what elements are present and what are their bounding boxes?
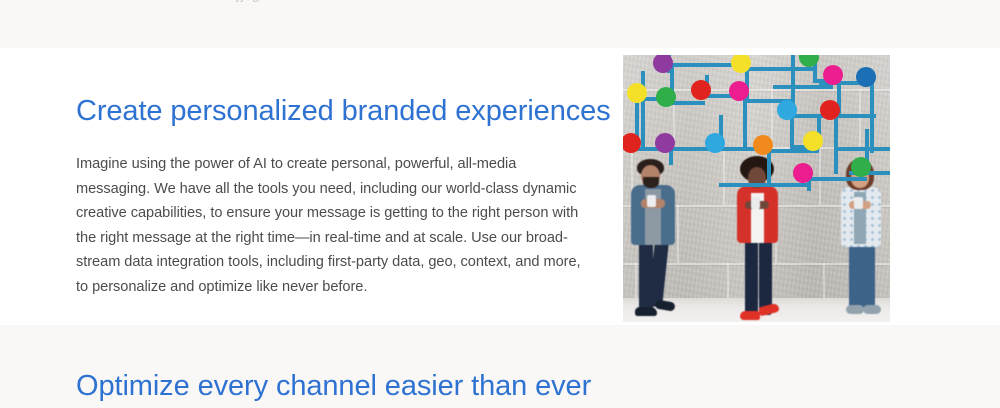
network-link	[773, 85, 833, 89]
page-root: jy g Create personalized branded experie…	[0, 0, 1000, 408]
network-link	[719, 183, 809, 187]
page-title: Create personalized branded experiences	[76, 92, 586, 130]
network-node	[656, 87, 676, 107]
network-node	[803, 131, 823, 151]
network-node	[705, 133, 725, 153]
clipped-previous-text: jy g	[236, 0, 260, 3]
network-link	[835, 147, 890, 151]
network-link	[834, 114, 838, 174]
network-link	[767, 149, 771, 185]
network-diagram-overlay	[623, 55, 890, 322]
content-text-column: Create personalized branded experiences …	[76, 92, 586, 300]
network-link	[807, 177, 867, 181]
network-link	[641, 71, 645, 151]
network-link	[834, 114, 876, 118]
network-node	[753, 135, 773, 155]
photo-inner	[623, 55, 890, 322]
network-node	[823, 65, 843, 85]
hero-photo	[623, 55, 890, 322]
network-node	[851, 157, 871, 177]
network-link	[745, 67, 813, 71]
network-node	[793, 163, 813, 183]
network-link	[790, 115, 794, 145]
next-section-heading: Optimize every channel easier than ever	[76, 367, 591, 405]
network-node	[627, 83, 647, 103]
section-body-text: Imagine using the power of AI to create …	[76, 130, 586, 300]
network-node	[777, 100, 797, 120]
network-node	[820, 100, 840, 120]
network-link	[670, 101, 705, 105]
background-band-top	[0, 0, 1000, 48]
network-node	[729, 81, 749, 101]
network-node	[856, 67, 876, 87]
network-node	[655, 133, 675, 153]
network-node	[691, 80, 711, 100]
